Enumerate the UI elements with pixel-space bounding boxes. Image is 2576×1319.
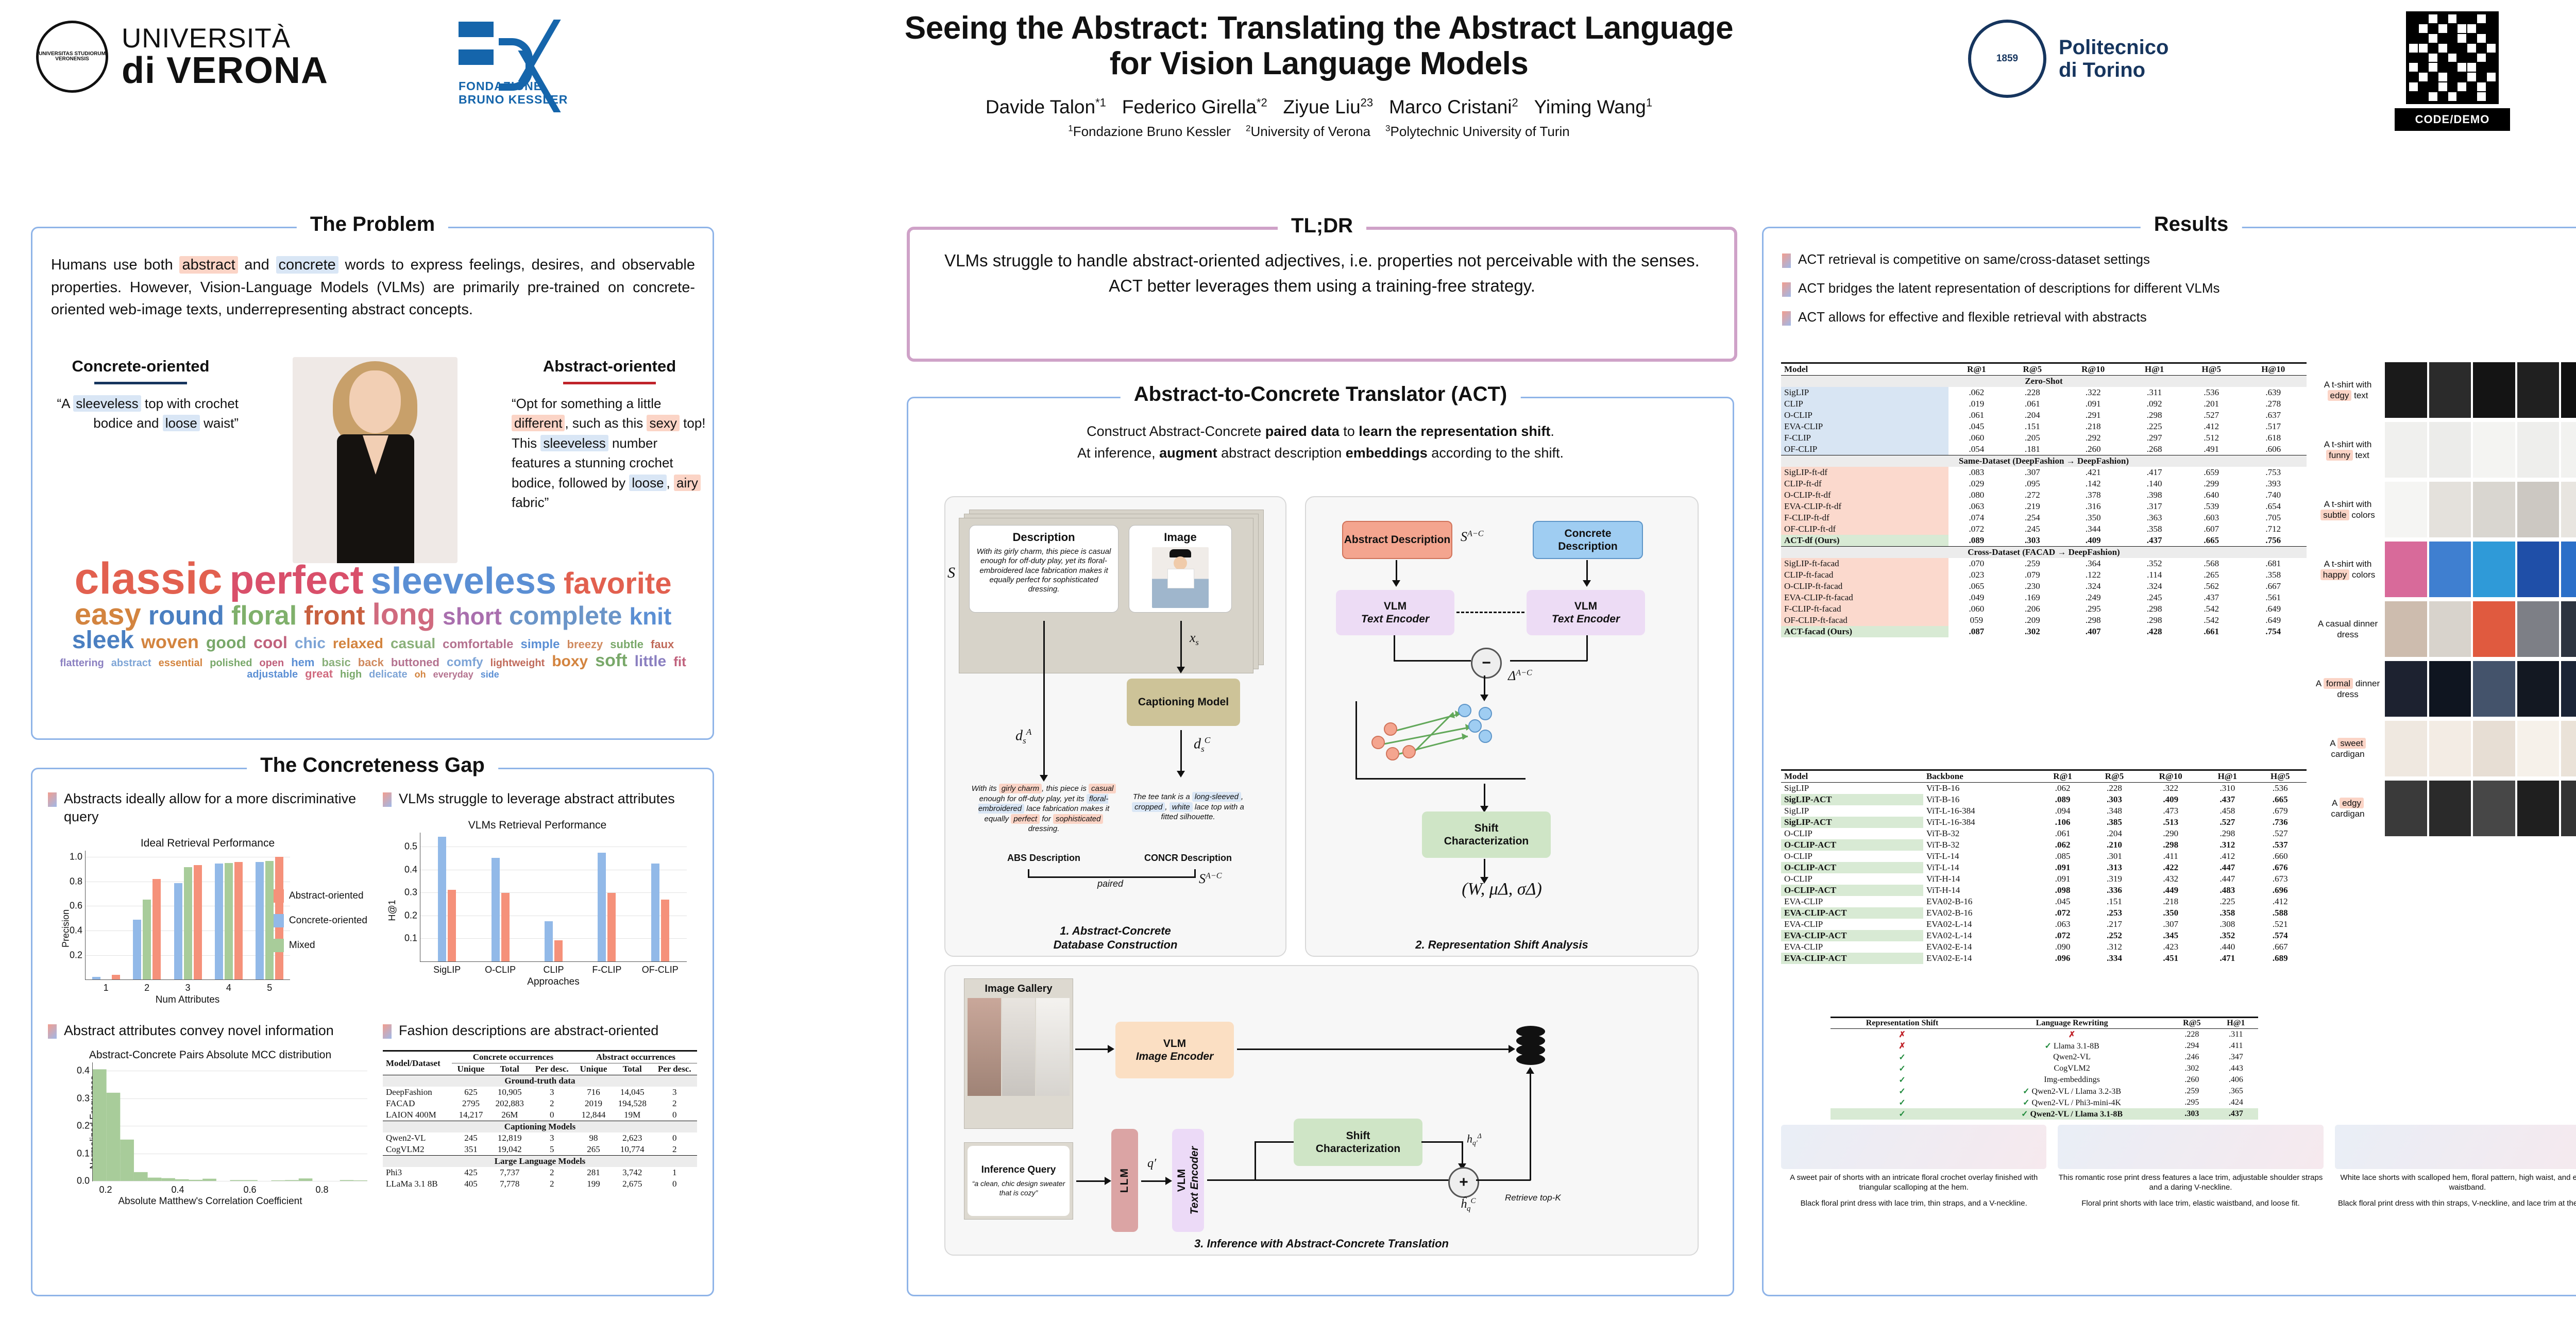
cell: .689 — [2254, 953, 2307, 964]
highlight-abs: subtle — [2320, 510, 2349, 520]
cell: .606 — [2240, 444, 2307, 455]
cell: .308 — [2201, 919, 2253, 930]
table-row: DeepFashion62510,905371614,0453 — [383, 1087, 697, 1098]
box-abstract-description: Abstract Description — [1342, 521, 1452, 559]
cell: .740 — [2240, 489, 2307, 501]
cell: .428 — [2126, 626, 2183, 637]
cell: .667 — [2254, 941, 2307, 953]
chart-vlms-retrieval-performance: VLMs Retrieval PerformanceH@10.10.20.30.… — [383, 819, 692, 988]
highlight-abs: sweet — [2337, 738, 2365, 749]
word-cloud-word: comfy — [447, 657, 483, 669]
cell: .278 — [2240, 398, 2307, 410]
gap-bullet-4-text: Fashion descriptions are abstract-orient… — [399, 1022, 658, 1040]
box-vlm-image-encoder: VLM Image Encoder — [1115, 1022, 1234, 1078]
results-bullet-2: ACT bridges the latent representation of… — [1782, 280, 2576, 297]
highlight-con: white — [1170, 802, 1193, 812]
cell: .181 — [2005, 444, 2060, 455]
cell: .045 — [2037, 896, 2088, 907]
retrieved-image[interactable] — [2473, 601, 2515, 657]
table-row: ✓ Img-embeddings.260.406 — [1831, 1074, 2258, 1086]
table-row: O-CLIP-ACT ViT-L-14.091.313.422.447.676 — [1781, 862, 2307, 873]
cell-backbone: EVA02-E-14 — [1923, 953, 2037, 964]
cell: .676 — [2254, 862, 2307, 873]
y-tick: 0.6 — [70, 901, 82, 911]
cell: .142 — [2060, 478, 2126, 489]
x-tick: OF-CLIP — [642, 965, 679, 975]
polito-seal-icon: 1859 — [1968, 20, 2046, 98]
bar — [265, 861, 274, 979]
cell-backbone: ViT-H-14 — [1923, 873, 2037, 885]
retrieved-image[interactable] — [2385, 781, 2427, 836]
check-icon: ✓ — [2023, 1098, 2029, 1107]
table-row: EVA-CLIP-ft-facad.049.169.249.245.437.56… — [1781, 592, 2307, 603]
cell: .029 — [1948, 478, 2004, 489]
cell: .091 — [2037, 862, 2088, 873]
cell: .705 — [2240, 512, 2307, 523]
highlight-abs: girly charm — [999, 784, 1042, 793]
col-header: Per desc. — [530, 1063, 574, 1075]
label-retrieve-topk: Retrieve top-K — [1505, 1193, 1561, 1203]
cell-backbone: ViT-L-16-384 — [1923, 805, 2037, 817]
code-demo-button[interactable]: CODE/DEMO — [2395, 108, 2510, 131]
tsne-plot — [1781, 1125, 2046, 1169]
retrieved-image[interactable] — [2429, 482, 2471, 537]
bar — [492, 858, 500, 961]
table-row: SigLIP-ACT ViT-B-16.089.303.409.437.665 — [1781, 794, 2307, 805]
retrieved-image[interactable] — [2517, 542, 2560, 597]
retrieved-image[interactable] — [2517, 362, 2560, 418]
word-cloud-word: sleeveless — [371, 564, 556, 599]
word-cloud-word: knit — [630, 605, 672, 628]
cell: .365 — [2214, 1086, 2258, 1097]
cell: .358 — [2201, 907, 2253, 919]
word-cloud-word: adjustable — [247, 670, 298, 680]
cell: .521 — [2254, 919, 2307, 930]
bullet-square-icon — [383, 1024, 392, 1039]
retrieved-image[interactable] — [2561, 422, 2576, 478]
author: Yiming Wang1 — [1534, 96, 1653, 117]
cell: .334 — [2089, 953, 2140, 964]
box-shift-characterization-3: Shift Characterization — [1294, 1119, 1422, 1166]
cell-model: CLIP-ft-facad — [1781, 569, 1948, 581]
retrieved-image[interactable] — [2385, 422, 2427, 478]
cell: .298 — [2140, 839, 2201, 851]
cell: .312 — [2201, 839, 2253, 851]
cell: .218 — [2140, 896, 2201, 907]
operator-plus-icon: + — [1448, 1167, 1479, 1198]
cell: .217 — [2089, 919, 2140, 930]
legend-entry: Concrete-oriented — [274, 914, 367, 927]
cell: .423 — [2140, 941, 2201, 953]
diagram-step-1: S Description With its girly charm, this… — [944, 496, 1286, 957]
cell: 2795 — [452, 1098, 490, 1109]
bar-group — [634, 864, 687, 961]
word-cloud-word: classic — [75, 558, 223, 600]
box-vlm-text-encoder-3: VLM Text Encoder — [1172, 1129, 1204, 1232]
col-header: R@5 — [2170, 1018, 2214, 1029]
cell: .517 — [2240, 421, 2307, 432]
cell: .588 — [2254, 907, 2307, 919]
highlight-con: floral-embroidered — [978, 794, 1109, 814]
bar-group — [420, 837, 473, 961]
cell: .151 — [2089, 896, 2140, 907]
vlm-label-concr: VLM — [1574, 600, 1597, 613]
legend-label: Abstract-oriented — [289, 890, 364, 902]
cell: .072 — [2037, 930, 2088, 941]
cell: .201 — [2183, 398, 2240, 410]
cell-backbone: ViT-B-16 — [1923, 783, 2037, 794]
cell: LLaMa 3.1 8B — [383, 1178, 452, 1190]
word-cloud-word: simple — [520, 639, 560, 651]
cell-backbone: ViT-B-32 — [1923, 839, 2037, 851]
fbk-mark-icon — [459, 20, 613, 76]
retrieved-image[interactable] — [2385, 362, 2427, 418]
table-row: FACAD2795202,88322019194,5282 — [383, 1098, 697, 1109]
cell: .473 — [2140, 805, 2201, 817]
retrieved-image[interactable] — [2561, 601, 2576, 657]
cell: 19M — [613, 1109, 652, 1121]
verona-logo-line1: UNIVERSITÀ — [122, 25, 328, 52]
cell-model: OF-CLIP-ft-df — [1781, 523, 1948, 535]
check-icon: ✓ — [1899, 1076, 1905, 1085]
bullet-square-icon — [383, 792, 392, 807]
retrieved-image[interactable] — [2517, 601, 2560, 657]
cross-icon: ✗ — [2069, 1030, 2075, 1039]
cell: FACAD — [383, 1098, 452, 1109]
word-cloud-word: short — [443, 605, 502, 628]
cell: .253 — [2089, 907, 2140, 919]
retrieved-image[interactable] — [2561, 661, 2576, 717]
retrieval-query: A sweet cardigan — [2315, 738, 2381, 760]
x-tick: 2 — [144, 983, 149, 993]
cell-model: OF-CLIP — [1781, 444, 1948, 455]
cell: .228 — [2170, 1029, 2214, 1041]
retrieved-image[interactable] — [2473, 422, 2515, 478]
cell-model: ACT-df (Ours) — [1781, 535, 1948, 547]
cell-model: SigLIP — [1781, 783, 1923, 794]
inference-query-box: Inference Query “a clean, chic design sw… — [964, 1142, 1073, 1220]
col-header: R@1 — [2037, 770, 2088, 783]
shift-ablation-table: Representation ShiftLanguage RewritingR@… — [1831, 1017, 2258, 1120]
diagram-3-caption: 3. Inference with Abstract-Concrete Tran… — [945, 1237, 1698, 1250]
col-header: R@5 — [2005, 363, 2060, 376]
cell: 425 — [452, 1167, 490, 1178]
cell: .085 — [2037, 851, 2088, 862]
bar — [234, 862, 243, 979]
cell: .302 — [2170, 1063, 2214, 1074]
qualitative-caption: White lace shorts with scalloped hem, fl… — [2335, 1173, 2576, 1193]
cell: .471 — [2201, 953, 2253, 964]
results-bullet-text: ACT retrieval is competitive on same/cro… — [1798, 251, 2150, 268]
cell: .660 — [2254, 851, 2307, 862]
bar — [92, 977, 100, 979]
cell: .696 — [2254, 885, 2307, 896]
highlight-con: loose — [163, 415, 200, 431]
highlight-abs: edgy — [2328, 390, 2352, 401]
word-cloud-word: delicate — [369, 670, 407, 680]
retrieved-image[interactable] — [2517, 781, 2560, 836]
cell: .290 — [2140, 828, 2201, 839]
highlight-abs: sexy — [647, 415, 679, 431]
box-shift-characterization-2: Shift Characterization — [1422, 811, 1551, 858]
table-section-header: Same-Dataset (DeepFashion → DeepFashion) — [1781, 455, 2307, 467]
retrieved-image[interactable] — [2473, 721, 2515, 776]
cell: .407 — [2060, 626, 2126, 637]
cell: .272 — [2005, 489, 2060, 501]
retrieval-examples-grid: A t-shirt with edgy text A t-shirt with … — [2315, 362, 2576, 840]
cell: .060 — [1948, 432, 2004, 444]
highlight-abs: funny — [2326, 450, 2353, 461]
cell: .319 — [2089, 873, 2140, 885]
y-tick: 0.8 — [70, 876, 82, 887]
retrieved-image[interactable] — [2517, 482, 2560, 537]
backbone-results-table: ModelBackboneR@1R@5R@10H@1H@5 SigLIP ViT… — [1781, 769, 2307, 964]
problem-paragraph: Humans use both abstract and concrete wo… — [51, 254, 695, 322]
symbol-xs: xs — [1190, 630, 1199, 648]
y-tick: 0.3 — [77, 1093, 90, 1104]
table-row: LAION 400M14,21726M012,84419M0 — [383, 1109, 697, 1121]
cell: .712 — [2240, 523, 2307, 535]
panel-the-problem: The Problem Humans use both abstract and… — [31, 227, 714, 740]
cell: .458 — [2201, 805, 2253, 817]
qualitative-caption: Floral print shorts with lace trim, elas… — [2058, 1199, 2323, 1209]
cell: .092 — [2126, 398, 2183, 410]
bar — [184, 867, 192, 979]
cell: .246 — [2170, 1052, 2214, 1063]
table-row: SigLIP-ACT ViT-L-16-384.106.385.513.527.… — [1781, 817, 2307, 828]
qr-code-icon[interactable] — [2406, 11, 2499, 104]
retrieved-image[interactable] — [2517, 661, 2560, 717]
retrieved-image[interactable] — [2561, 542, 2576, 597]
cell: 0 — [652, 1178, 697, 1190]
cell: 14,217 — [452, 1109, 490, 1121]
cell: .095 — [2005, 478, 2060, 489]
logo-politecnico-di-torino: 1859 Politecnico di Torino — [1968, 18, 2287, 100]
cell: .447 — [2201, 873, 2253, 885]
cell: .437 — [2183, 592, 2240, 603]
retrieved-image[interactable] — [2429, 721, 2471, 776]
retrieved-image[interactable] — [2473, 661, 2515, 717]
cell: .307 — [2005, 467, 2060, 478]
cross-icon: ✗ — [1899, 1030, 1905, 1039]
cell-model: EVA-CLIP-ft-facad — [1781, 592, 1948, 603]
retrieved-image[interactable] — [2429, 781, 2471, 836]
cell-rewrite: ✗ — [1974, 1029, 2170, 1041]
cell: .072 — [2037, 907, 2088, 919]
retrieved-image[interactable] — [2561, 781, 2576, 836]
cell: .542 — [2183, 603, 2240, 615]
cell-model: EVA-CLIP — [1781, 919, 1923, 930]
cell: .049 — [1948, 592, 2004, 603]
cell-shift: ✓ — [1831, 1063, 1974, 1074]
cell: 2,675 — [613, 1178, 652, 1190]
retrieval-row: A t-shirt with happy colors — [2315, 542, 2576, 597]
cell-model: EVA-CLIP-ACT — [1781, 907, 1923, 919]
cell: .537 — [2254, 839, 2307, 851]
bar — [143, 900, 151, 979]
cell: .298 — [2060, 615, 2126, 626]
word-cloud-word: flattering — [60, 658, 104, 668]
card-description-title: Description — [974, 531, 1114, 544]
cell: .603 — [2183, 512, 2240, 523]
highlight-abs: sophisticated — [1053, 814, 1104, 824]
box-captioning-model-label: Captioning Model — [1138, 696, 1229, 708]
qualitative-column: White lace shorts with scalloped hem, fl… — [2335, 1125, 2576, 1208]
text-encoder-label-abs: Text Encoder — [1361, 613, 1429, 625]
tsne-plot — [2335, 1125, 2576, 1169]
cell-model: O-CLIP-ACT — [1781, 862, 1923, 873]
cell: .228 — [2089, 783, 2140, 794]
word-cloud-word: breezy — [567, 639, 603, 650]
results-bullet-1: ACT retrieval is competitive on same/cro… — [1782, 251, 2576, 268]
cell: .091 — [2037, 873, 2088, 885]
cell: .062 — [2037, 783, 2088, 794]
image-gallery-label: Image Gallery — [964, 979, 1073, 998]
cell: 3 — [652, 1087, 697, 1098]
y-tick: 0.4 — [70, 925, 82, 936]
table-section-header: Captioning Models — [383, 1121, 697, 1133]
cell: 19,042 — [490, 1144, 530, 1156]
box-llm: LLM — [1111, 1129, 1138, 1232]
cell: 0 — [652, 1132, 697, 1144]
table-row: EVA-CLIP.045.151.218.225.412.517 — [1781, 421, 2307, 432]
bar — [661, 900, 669, 961]
cell: .254 — [2005, 512, 2060, 523]
bar — [152, 879, 161, 979]
retrieved-image[interactable] — [2385, 721, 2427, 776]
author: Davide Talon*1 — [986, 96, 1106, 117]
highlight-con: sleeveless — [540, 435, 608, 451]
retrieved-image[interactable] — [2429, 601, 2471, 657]
poster-root: UNIVERSITAS STUDIORUM VERONENSIS UNIVERS… — [0, 0, 2576, 1319]
verona-seal-text: UNIVERSITAS STUDIORUM VERONENSIS — [39, 52, 106, 62]
shift-box-line2: Characterization — [1444, 835, 1529, 848]
cell: .291 — [2060, 410, 2126, 421]
word-cloud-word: basic — [321, 657, 350, 668]
table-row: O-CLIP-ft-facad.065.230.324.324.562.667 — [1781, 581, 2307, 592]
cell: .542 — [2183, 615, 2240, 626]
cell: .225 — [2126, 421, 2183, 432]
retrieval-row: A sweet cardigan — [2315, 721, 2576, 776]
cell: 12,844 — [574, 1109, 613, 1121]
retrieved-image[interactable] — [2517, 721, 2560, 776]
cell-model: EVA-CLIP — [1781, 941, 1923, 953]
cell: LAION 400M — [383, 1109, 452, 1121]
retrieved-image[interactable] — [2385, 542, 2427, 597]
cell: .574 — [2254, 930, 2307, 941]
retrieved-image[interactable] — [2429, 542, 2471, 597]
cell: .754 — [2240, 626, 2307, 637]
cell: .513 — [2140, 817, 2201, 828]
highlight-con: concrete — [276, 256, 338, 274]
scatter-shift-plot — [1355, 697, 1572, 780]
cell: .618 — [2240, 432, 2307, 444]
cell: .561 — [2240, 592, 2307, 603]
retrieved-image[interactable] — [2473, 781, 2515, 836]
cell-model: SigLIP — [1781, 387, 1948, 398]
cell: .074 — [1948, 512, 2004, 523]
x-tick: 0.4 — [171, 1185, 184, 1195]
word-cloud-word: side — [481, 670, 499, 679]
retrieved-image[interactable] — [2385, 601, 2427, 657]
table-row: SigLIP ViT-L-16-384.094.348.473.458.679 — [1781, 805, 2307, 817]
retrieved-image[interactable] — [2385, 661, 2427, 717]
chart-ideal-retrieval-performance: Ideal Retrieval PerformancePrecision0.20… — [48, 837, 367, 1006]
bar — [438, 837, 446, 961]
cell: .083 — [1948, 467, 2004, 478]
cell: .665 — [2254, 794, 2307, 805]
retrieved-image[interactable] — [2473, 542, 2515, 597]
retrieved-image[interactable] — [2385, 482, 2427, 537]
retrieved-image[interactable] — [2473, 482, 2515, 537]
cell-model: F-CLIP-ft-df — [1781, 512, 1948, 523]
symbol-SAC-2: SA−C — [1461, 529, 1483, 545]
text-encoder-label-concr: Text Encoder — [1552, 613, 1620, 625]
symbol-SAC-1: SA−C — [1199, 871, 1222, 887]
symbol-S: S — [947, 564, 955, 582]
check-icon: ✓ — [1899, 1087, 1905, 1096]
cell-model: CLIP — [1781, 398, 1948, 410]
cell: .169 — [2005, 592, 2060, 603]
cell: .512 — [2183, 432, 2240, 444]
thumbnail-model-photo — [1152, 547, 1209, 608]
symbol-shift-params: (W, μΔ, σΔ) — [1306, 880, 1698, 899]
y-tick: 0.2 — [404, 910, 417, 921]
cell-model: EVA-CLIP-ACT — [1781, 930, 1923, 941]
retrieved-image[interactable] — [2473, 362, 2515, 418]
cell: .491 — [2183, 444, 2240, 455]
cell: .437 — [2126, 535, 2183, 547]
retrieved-image[interactable] — [2561, 721, 2576, 776]
cell: 98 — [574, 1132, 613, 1144]
cell: 265 — [574, 1144, 613, 1156]
cell: .640 — [2183, 489, 2240, 501]
table-row: SigLIP-ft-df.083.307.421.417.659.753 — [1781, 467, 2307, 478]
retrieved-image[interactable] — [2429, 422, 2471, 478]
cell: .417 — [2126, 467, 2183, 478]
bar — [194, 865, 202, 979]
retrieved-image[interactable] — [2561, 482, 2576, 537]
x-tick: 0.2 — [99, 1185, 112, 1195]
cell-rewrite: Qwen2-VL — [1974, 1052, 2170, 1063]
qualitative-caption: Black floral print dress with thin strap… — [2335, 1199, 2576, 1209]
gap-bullet-2-text: VLMs struggle to leverage abstract attri… — [399, 790, 675, 808]
chart-title: Ideal Retrieval Performance — [48, 837, 367, 850]
concrete-quote: “A sleeveless top with crochet bodice an… — [43, 394, 239, 433]
cell: .206 — [2005, 603, 2060, 615]
col-header: H@5 — [2254, 770, 2307, 783]
retrieval-query: A casual dinner dress — [2315, 618, 2381, 640]
cell: .204 — [2089, 828, 2140, 839]
cell: .072 — [1948, 523, 2004, 535]
retrieved-image[interactable] — [2561, 362, 2576, 418]
cell: .023 — [1948, 569, 2004, 581]
cell: .310 — [2201, 783, 2253, 794]
cell: .219 — [2005, 501, 2060, 512]
highlight-abs: formal — [2324, 678, 2353, 689]
bar — [112, 975, 120, 980]
retrieved-image[interactable] — [2429, 362, 2471, 418]
cell: .295 — [2060, 603, 2126, 615]
word-cloud-word: cool — [253, 635, 287, 650]
word-cloud-word: chic — [295, 636, 326, 651]
cell-model: EVA-CLIP — [1781, 896, 1923, 907]
bar — [598, 853, 606, 961]
cell: .295 — [2170, 1097, 2214, 1108]
retrieved-image[interactable] — [2517, 422, 2560, 478]
cell: .311 — [2126, 387, 2183, 398]
retrieved-image[interactable] — [2429, 661, 2471, 717]
